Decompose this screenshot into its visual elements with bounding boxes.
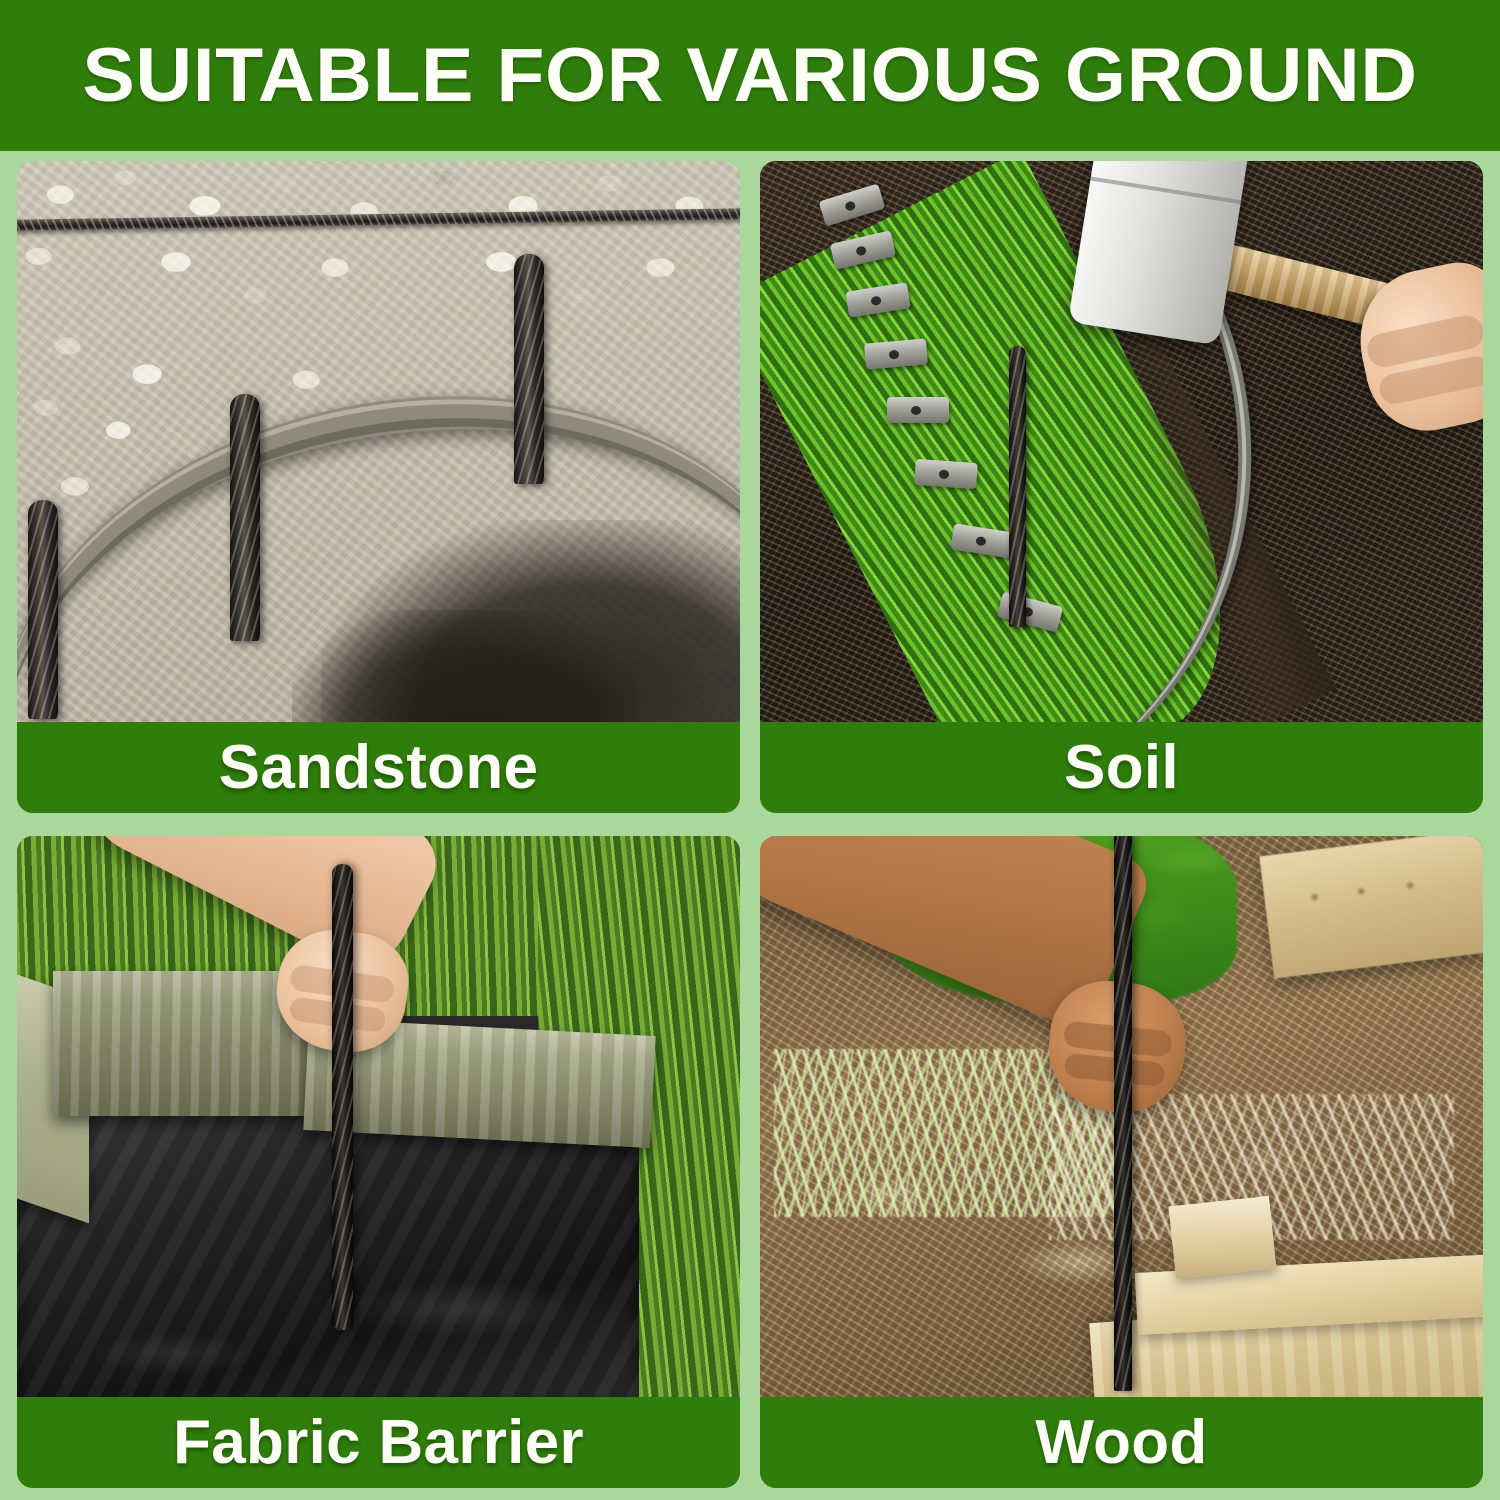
fabric-barrier-caption-bar: Fabric Barrier (17, 1397, 740, 1488)
panel-fabric-barrier: Fabric Barrier (17, 836, 740, 1488)
soil-caption-text: Soil (1064, 737, 1179, 799)
rebar-stake-through-fabric (332, 864, 353, 1330)
fabric-barrier-caption-text: Fabric Barrier (173, 1412, 584, 1474)
edging-tab (915, 459, 979, 489)
rebar-stake-in-wood-bed (1114, 836, 1132, 1391)
wood-caption-bar: Wood (760, 1397, 1483, 1488)
sandstone-photo (17, 161, 740, 722)
rebar-stake-right (514, 254, 544, 484)
panel-sandstone: Sandstone (17, 161, 740, 813)
panel-wood: Wood (760, 836, 1483, 1488)
fabric-barrier-photo (17, 836, 740, 1397)
sandstone-caption-bar: Sandstone (17, 722, 740, 813)
soil-photo (760, 161, 1483, 722)
edging-tab (887, 397, 949, 423)
rebar-stake-center (230, 394, 260, 641)
wood-caption-text: Wood (1035, 1412, 1207, 1474)
lumber-board-stub (1169, 1196, 1277, 1279)
sandstone-caption-text: Sandstone (219, 737, 539, 799)
panel-grid: Sandstone (17, 161, 1483, 1488)
lumber-board-background (1259, 836, 1483, 979)
page-title: SUITABLE FOR VARIOUS GROUND (82, 38, 1417, 114)
wood-photo (760, 836, 1483, 1397)
rebar-stake-left (28, 500, 58, 719)
edging-tab (864, 338, 928, 369)
soil-caption-bar: Soil (760, 722, 1483, 813)
product-infographic: SUITABLE FOR VARIOUS GROUND Sandstone (0, 0, 1500, 1500)
panel-soil: Soil (760, 161, 1483, 813)
header-banner: SUITABLE FOR VARIOUS GROUND (0, 0, 1500, 151)
rebar-stake-in-soil (1009, 346, 1026, 627)
